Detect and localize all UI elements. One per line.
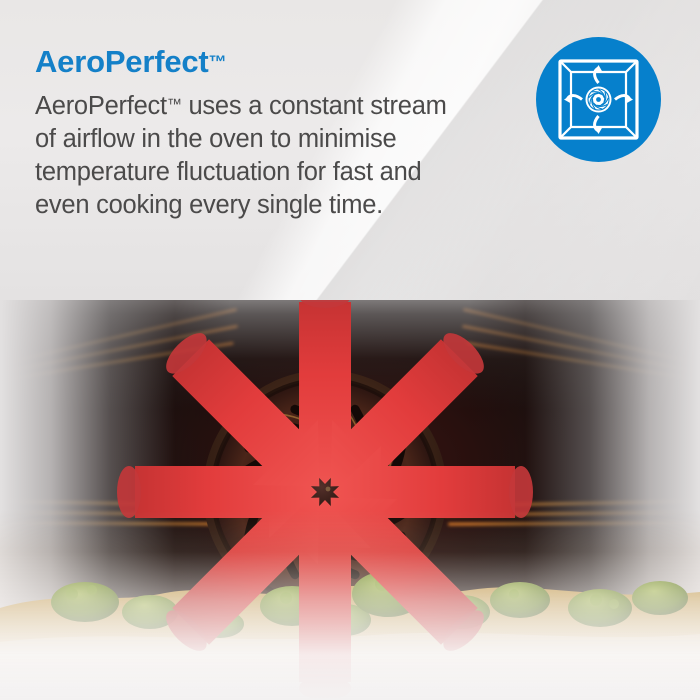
description-lead: AeroPerfect: [35, 92, 167, 120]
oven-airflow-icon: [536, 37, 661, 162]
feature-description: AeroPerfect™ uses a constant stream of a…: [35, 88, 455, 222]
title-trademark-symbol: ™: [209, 52, 227, 72]
fade-bottom: [0, 510, 700, 700]
page-title: AeroPerfect™: [35, 44, 226, 80]
aeroperfect-badge: [536, 37, 661, 162]
hero-image: [0, 250, 700, 700]
description-trademark-symbol: ™: [167, 96, 182, 113]
promo-panel: AeroPerfect™ AeroPerfect™ uses a constan…: [0, 0, 700, 700]
page-title-text: AeroPerfect: [35, 44, 209, 79]
